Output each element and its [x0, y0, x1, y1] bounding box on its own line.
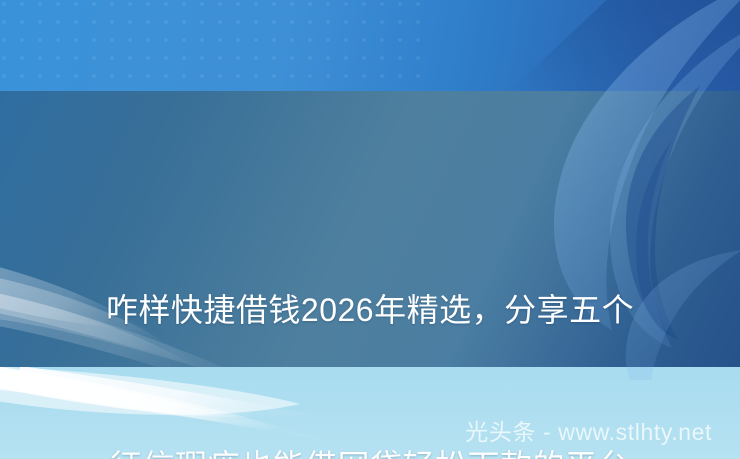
promo-banner: 咋样快捷借钱2026年精选，分享五个 征信瑕疵也能借网贷轻松下款的平台 光头条 …	[0, 0, 740, 459]
top-diagonal-wedge	[510, 0, 740, 91]
dot-grid-texture	[0, 0, 429, 91]
headline-line-1: 咋样快捷借钱2026年精选，分享五个	[0, 284, 740, 336]
site-watermark: 光头条 - www.stlhty.net	[465, 413, 712, 447]
top-color-band	[0, 0, 740, 91]
